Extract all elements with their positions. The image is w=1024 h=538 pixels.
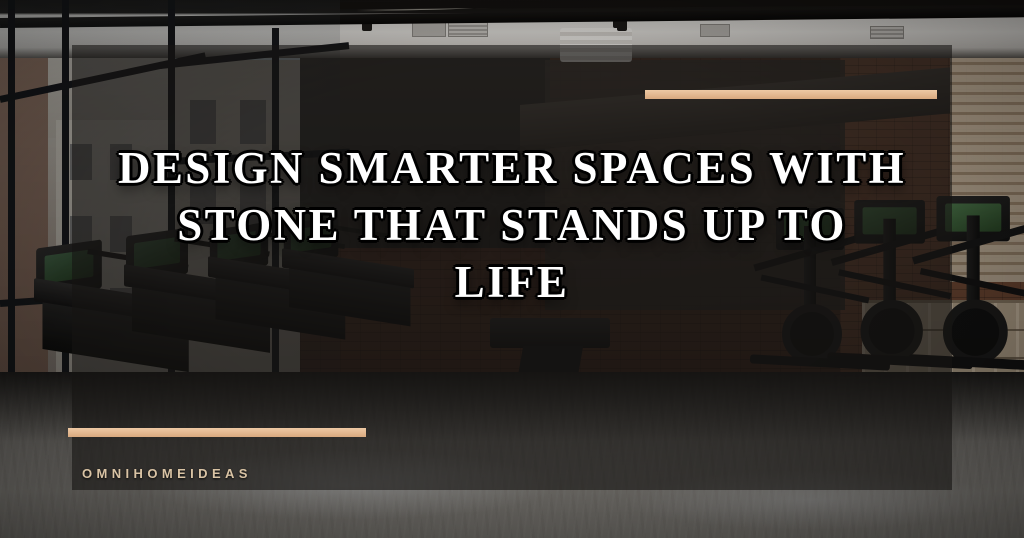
top-accent-bar	[645, 90, 937, 99]
brand-watermark: OMNIHOMEIDEAS	[82, 466, 252, 481]
banner-stage: Design Smarter Spaces With Stone That St…	[0, 0, 1024, 538]
page-title: Design Smarter Spaces With Stone That St…	[72, 140, 952, 311]
bottom-accent-bar	[68, 428, 366, 437]
